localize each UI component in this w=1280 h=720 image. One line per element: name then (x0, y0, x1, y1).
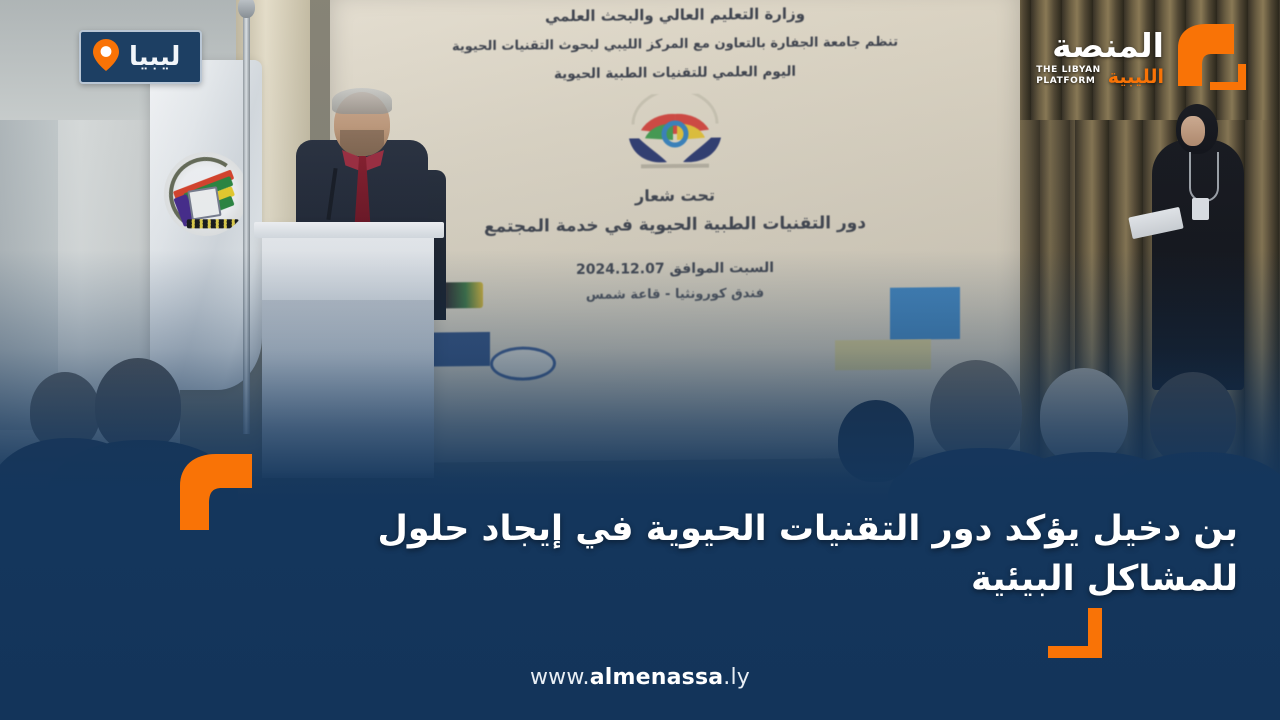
audience-head (1040, 368, 1128, 464)
brand-logo[interactable]: المنصة الليبية THE LIBYAN PLATFORM (1036, 20, 1258, 96)
banner-sponsor-chip (890, 287, 960, 340)
university-emblem (158, 146, 254, 242)
banner-ministry-line: وزارة التعليم العالي والبحث العلمي (371, 3, 978, 27)
news-card: وزارة التعليم العالي والبحث العلمي تنظم … (0, 0, 1280, 720)
url-suffix: .ly (723, 665, 750, 690)
headline-line-2: للمشاكل البيئية (238, 555, 1238, 605)
orange-close-quote-icon (1048, 608, 1110, 660)
location-label: ليبيا (129, 44, 180, 70)
brand-name-arabic: المنصة (1036, 29, 1164, 62)
url-main: almenassa (590, 665, 724, 690)
woman-badge (1192, 198, 1209, 220)
speaker-hair (332, 88, 392, 114)
woman-face (1181, 116, 1205, 146)
woman-lanyard (1189, 152, 1219, 202)
page-title: بن دخيل يؤكد دور التقنيات الحيوية في إيج… (238, 505, 1238, 604)
flag-finial (238, 0, 255, 18)
banner-event-title: اليوم العلمي للتقنيات الطبية الحيوية (371, 62, 978, 84)
map-pin-icon (93, 39, 119, 75)
flag-pole (243, 4, 250, 434)
podium-shadow (262, 300, 434, 360)
url-prefix: www. (530, 665, 590, 690)
banner-organizer-line: تنظم جامعة الجفارة بالتعاون مع المركز ال… (340, 33, 1009, 55)
audience-head (930, 360, 1022, 460)
banner-sponsor-chip (835, 339, 931, 370)
audience-head (95, 358, 181, 452)
brand-english-line1: THE LIBYAN (1036, 65, 1101, 76)
podium-top (254, 222, 444, 238)
location-badge[interactable]: ليبيا (79, 30, 202, 84)
event-hands-logo (615, 93, 735, 172)
almenassa-hook-mark-icon (1172, 20, 1258, 96)
brand-name-english: THE LIBYAN PLATFORM (1036, 65, 1101, 88)
headline-line-1: بن دخيل يؤكد دور التقنيات الحيوية في إيج… (238, 505, 1238, 555)
website-url[interactable]: www.almenassa.ly (0, 665, 1280, 690)
brand-english-line2: PLATFORM (1036, 76, 1101, 87)
brand-subname-arabic: الليبية (1108, 68, 1164, 87)
